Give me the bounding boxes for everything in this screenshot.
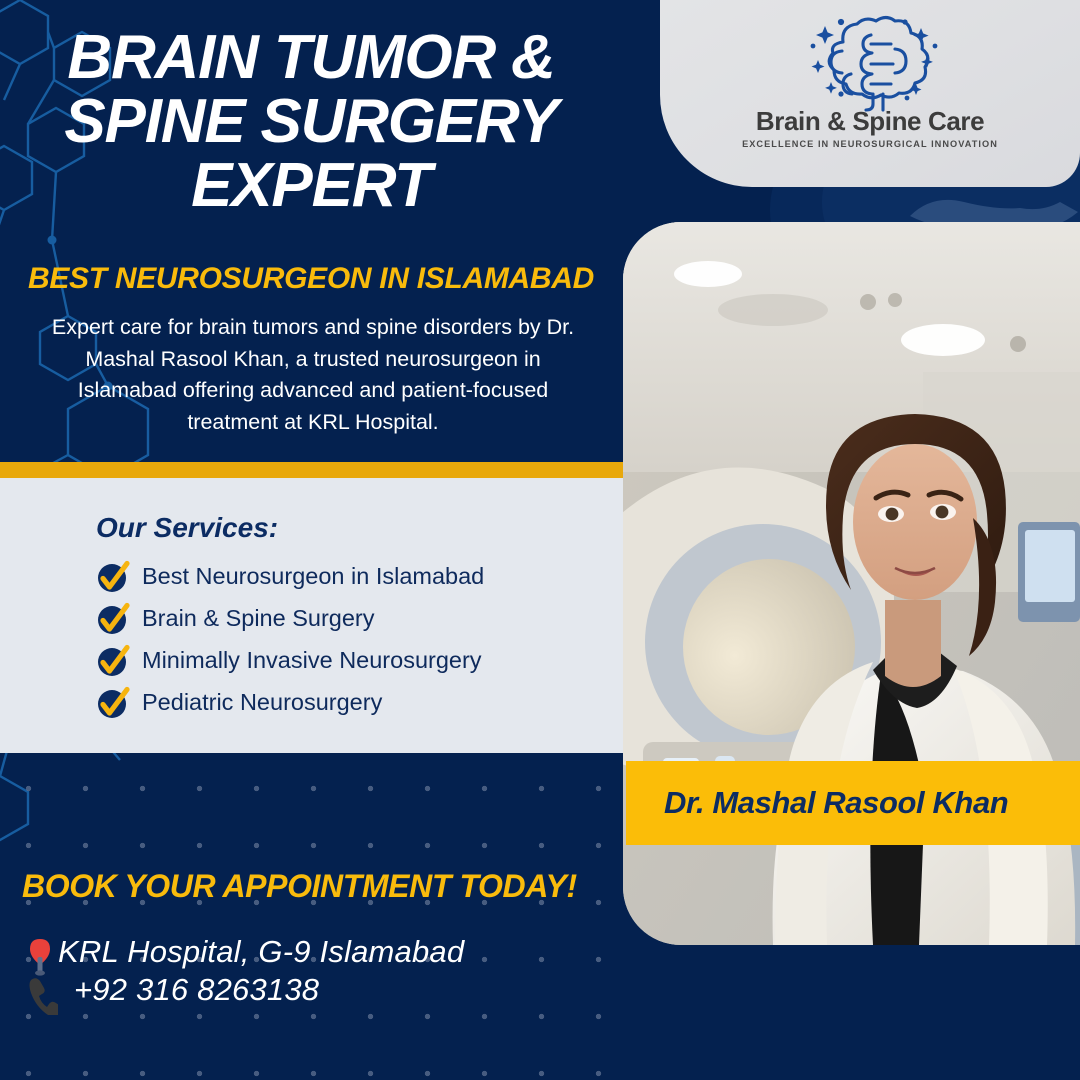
dot-grid-decoration xyxy=(0,760,640,1080)
doctor-name-banner: Dr. Mashal Rasool Khan xyxy=(626,761,1080,845)
subheadline: BEST NEUROSURGEON IN ISLAMABAD xyxy=(0,262,622,296)
services-heading: Our Services: xyxy=(96,512,278,544)
headline-line-2: SPINE SURGERY xyxy=(64,87,557,156)
check-circle-icon xyxy=(96,686,130,720)
services-list: Best Neurosurgeon in Islamabad Brain & S… xyxy=(96,556,616,724)
poster-canvas: Brain & Spine Care EXCELLENCE IN NEUROSU… xyxy=(0,0,1080,1080)
list-item: Minimally Invasive Neurosurgery xyxy=(96,640,616,682)
check-circle-icon xyxy=(96,560,130,594)
phone-text: +92 316 8263138 xyxy=(74,973,319,1006)
list-item: Brain & Spine Surgery xyxy=(96,598,616,640)
page-title: BRAIN TUMOR & SPINE SURGERY EXPERT xyxy=(0,26,622,218)
service-label: Minimally Invasive Neurosurgery xyxy=(142,649,482,673)
service-label: Best Neurosurgeon in Islamabad xyxy=(142,565,484,589)
brain-logo-icon xyxy=(785,8,955,112)
doctor-name: Dr. Mashal Rasool Khan xyxy=(664,785,1008,821)
telephone-icon xyxy=(22,973,58,1015)
list-item: Best Neurosurgeon in Islamabad xyxy=(96,556,616,598)
brand-logo-panel: Brain & Spine Care EXCELLENCE IN NEUROSU… xyxy=(660,0,1080,187)
gold-divider xyxy=(0,462,623,478)
location-pin-icon xyxy=(22,935,58,977)
intro-paragraph: Expert care for brain tumors and spine d… xyxy=(44,312,582,438)
logo-brand-name: Brain & Spine Care xyxy=(756,108,984,134)
service-label: Brain & Spine Surgery xyxy=(142,607,375,631)
headline-line-3: EXPERT xyxy=(191,151,431,220)
service-label: Pediatric Neurosurgery xyxy=(142,691,382,715)
contact-block: KRL Hospital, G-9 Islamabad +92 316 8263… xyxy=(22,935,464,1015)
check-circle-icon xyxy=(96,602,130,636)
check-circle-icon xyxy=(96,644,130,678)
cta-heading: BOOK YOUR APPOINTMENT TODAY! xyxy=(22,868,577,905)
headline-line-1: BRAIN TUMOR & xyxy=(67,23,554,92)
address-row: KRL Hospital, G-9 Islamabad xyxy=(22,935,464,977)
list-item: Pediatric Neurosurgery xyxy=(96,682,616,724)
address-text: KRL Hospital, G-9 Islamabad xyxy=(58,935,464,968)
phone-row: +92 316 8263138 xyxy=(22,973,464,1015)
logo-tagline: EXCELLENCE IN NEUROSURGICAL INNOVATION xyxy=(742,139,998,149)
